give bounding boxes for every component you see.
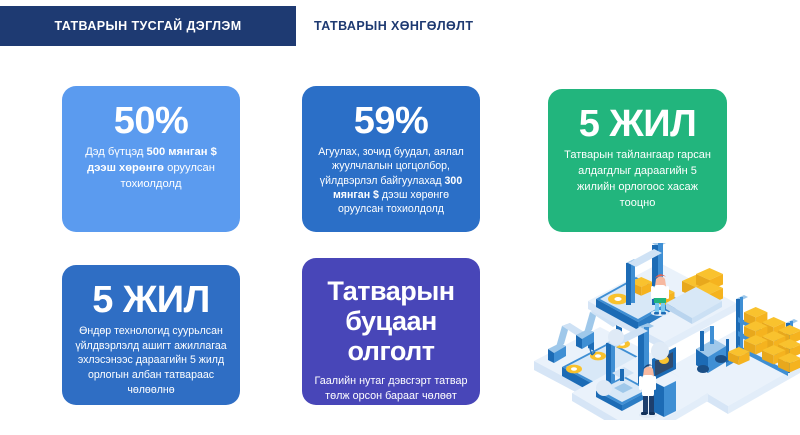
card-headline: 50% [114,102,189,141]
tab-label: ТАТВАРЫН ХӨНГӨЛӨЛТ [314,19,473,33]
tab-tax-special-regime[interactable]: ТАТВАРЫН ТУСГАЙ ДЭГЛЭМ [0,6,296,46]
tab-tax-relief[interactable]: ТАТВАРЫН ХӨНГӨЛӨЛТ [296,6,574,46]
card-investment-50-percent[interactable]: 50% Дэд бүтцэд 500 мянган $ дээш хөрөнгө… [62,86,240,232]
infographic-root: ТАТВАРЫН ТУСГАЙ ДЭГЛЭМ ТАТВАРЫН ХӨНГӨЛӨЛ… [0,0,800,420]
card-body: Өндөр технологид суурьлсан үйлдвэрлэлд а… [74,324,228,398]
card-loss-carryforward-5-years[interactable]: 5 ЖИЛ Татварын тайлангаар гарсан алдагдл… [548,89,727,232]
card-tax-refund[interactable]: Татварын буцаан олголт Гаалийн нутаг дэв… [302,258,480,405]
card-body: Дэд бүтцэд 500 мянган $ дээш хөрөнгө ору… [74,145,228,193]
card-body-prefix: Агуулах, зочид буудал, аялал жуулчлалын … [318,146,464,187]
isometric-factory-illustration [500,243,800,420]
card-body: Татварын тайлангаар гарсан алдагдлыг дар… [560,148,715,212]
card-investment-59-percent[interactable]: 59% Агуулах, зочид буудал, аялал жуулчла… [302,86,480,232]
card-headline: 5 ЖИЛ [579,105,697,144]
card-body-prefix: Дэд бүтцэд [85,146,146,158]
card-body: Агуулах, зочид буудал, аялал жуулчлалын … [314,145,468,217]
card-headline: Татварын буцаан олголт [314,276,468,367]
tab-bar: ТАТВАРЫН ТУСГАЙ ДЭГЛЭМ ТАТВАРЫН ХӨНГӨЛӨЛ… [0,6,800,46]
card-headline: 5 ЖИЛ [92,281,210,320]
tab-label: ТАТВАРЫН ТУСГАЙ ДЭГЛЭМ [54,19,241,33]
card-body: Гаалийн нутаг дэвсгэрт татвар төлж орсон… [314,374,468,435]
card-headline: 59% [354,102,429,141]
card-hightech-exemption-5-years[interactable]: 5 ЖИЛ Өндөр технологид суурьлсан үйлдвэр… [62,265,240,405]
